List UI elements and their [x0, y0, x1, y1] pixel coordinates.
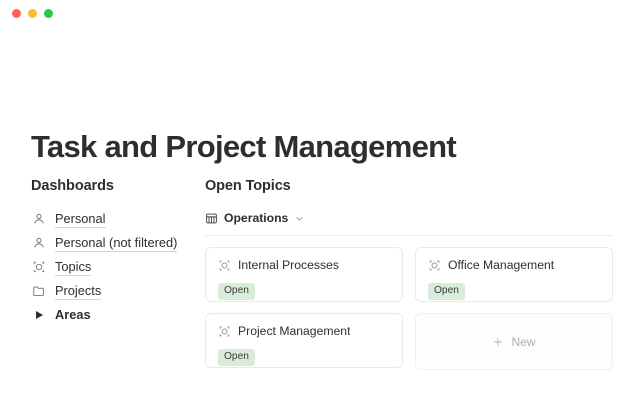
sidebar-item-label: Projects [55, 283, 101, 300]
sidebar-item-personal-not-filtered[interactable]: Personal (not filtered) [31, 231, 205, 255]
topic-card-title: Internal Processes [238, 258, 339, 272]
sidebar-item-label: Areas [55, 307, 91, 323]
dashboards-panel: Dashboards Personal Personal [0, 178, 205, 370]
open-topics-panel: Open Topics Operations [205, 178, 640, 370]
new-topic-inner: New [492, 335, 535, 349]
new-topic-button[interactable]: New [415, 313, 613, 370]
view-tabs: Operations [205, 207, 613, 229]
new-topic-label: New [511, 335, 535, 349]
topic-card-header: Internal Processes [218, 258, 390, 272]
topic-card[interactable]: Project Management Open [205, 313, 403, 368]
dashboards-heading: Dashboards [31, 178, 205, 194]
chevron-down-icon[interactable] [294, 213, 305, 224]
folder-icon [31, 284, 46, 299]
tab-operations[interactable]: Operations [205, 211, 305, 225]
topic-card-header: Office Management [428, 258, 600, 272]
topics-grid: Internal Processes Open Office Managemen… [205, 247, 613, 370]
window-titlebar [0, 0, 640, 26]
table-grid-icon [205, 212, 218, 225]
caret-right-icon [31, 308, 46, 323]
topic-card[interactable]: Internal Processes Open [205, 247, 403, 302]
status-badge: Open [218, 349, 255, 366]
tab-label: Operations [224, 211, 288, 225]
topic-icon [428, 259, 441, 272]
sidebar-item-label: Personal [55, 211, 106, 228]
open-topics-heading: Open Topics [205, 178, 613, 194]
person-icon [31, 236, 46, 251]
sidebar-item-topics[interactable]: Topics [31, 255, 205, 279]
plus-icon [492, 336, 504, 348]
topic-card-title: Office Management [448, 258, 554, 272]
topic-card-title: Project Management [238, 324, 350, 338]
topic-card[interactable]: Office Management Open [415, 247, 613, 302]
sidebar-item-label: Personal (not filtered) [55, 235, 177, 252]
sidebar-item-personal[interactable]: Personal [31, 207, 205, 231]
page-title: Task and Project Management [31, 129, 456, 165]
tabs-divider [205, 235, 613, 236]
sidebar-item-areas[interactable]: Areas [31, 303, 205, 327]
page-content: Task and Project Management Dashboards P… [0, 26, 640, 400]
status-badge: Open [218, 283, 255, 300]
topic-icon [218, 325, 231, 338]
status-badge: Open [428, 283, 465, 300]
window-minimize-button[interactable] [28, 9, 37, 18]
topic-icon [218, 259, 231, 272]
sidebar-item-projects[interactable]: Projects [31, 279, 205, 303]
topic-icon [31, 260, 46, 275]
content-columns: Dashboards Personal Personal [0, 178, 640, 370]
sidebar-item-label: Topics [55, 259, 91, 276]
person-icon [31, 212, 46, 227]
topic-card-header: Project Management [218, 324, 390, 338]
window-close-button[interactable] [12, 9, 21, 18]
window-maximize-button[interactable] [44, 9, 53, 18]
